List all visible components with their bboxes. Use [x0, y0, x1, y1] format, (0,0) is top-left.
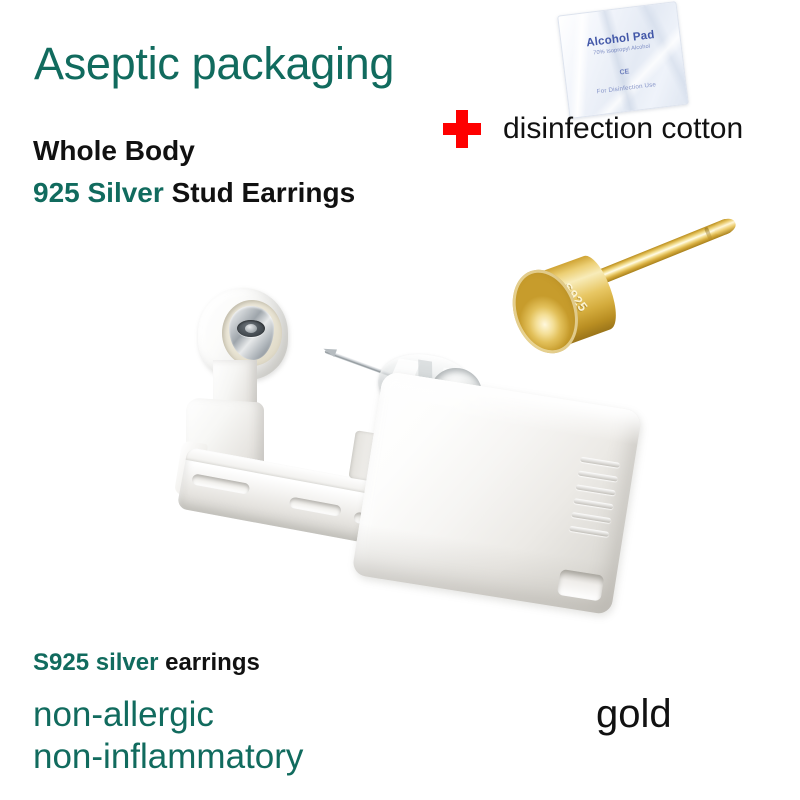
grip-ridge	[578, 470, 618, 481]
grip-ridge	[576, 484, 616, 495]
footer-material-teal: S925 silver	[33, 649, 158, 676]
device-arm-slot	[289, 497, 342, 517]
device-body-bevel	[378, 371, 642, 446]
footer-claim-non-allergic: non-allergic	[33, 694, 214, 736]
device-grip-ridges	[566, 457, 621, 558]
grip-ridge	[569, 526, 609, 537]
grip-ridge	[571, 512, 611, 523]
footer-material: S925 silver earrings	[33, 648, 260, 678]
device-arm-slot	[191, 473, 250, 494]
variant-label-gold: gold	[596, 690, 672, 738]
footer-claim-non-inflammatory: non-inflammatory	[33, 736, 303, 778]
needle-tip	[322, 345, 337, 357]
clasp-nub	[245, 324, 257, 333]
piercing-device	[0, 0, 800, 800]
grip-ridge	[573, 498, 613, 509]
footer-material-black: earrings	[165, 649, 260, 676]
device-main-body	[352, 371, 643, 615]
product-image: Aseptic packaging Whole Body 925 Silver …	[0, 0, 800, 800]
grip-ridge	[580, 457, 620, 468]
